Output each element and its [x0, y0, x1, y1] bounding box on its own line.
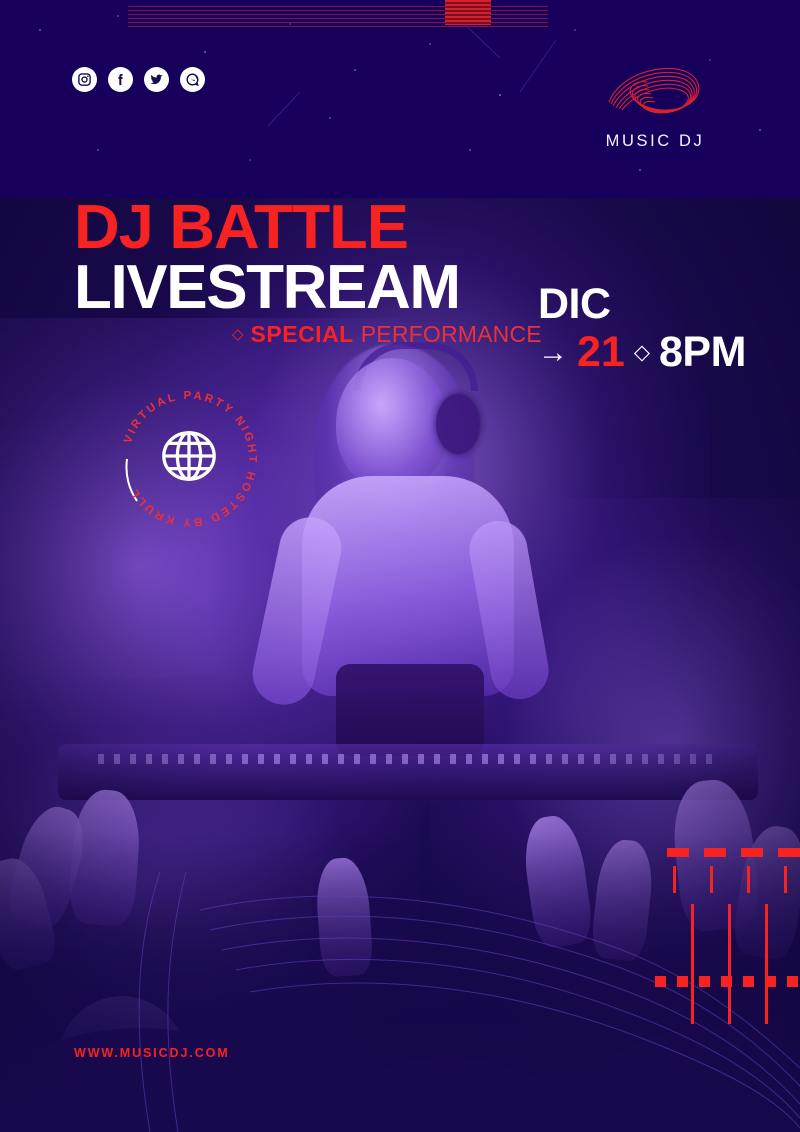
diamond-icon: ◇ [634, 342, 650, 363]
decor-dotted-row [655, 976, 800, 987]
poster-canvas: MUSIC DJ DJ BATTLE LIVESTREAM ◇ SPECIAL … [0, 0, 800, 1132]
top-band: MUSIC DJ [0, 0, 800, 198]
footer-website-url[interactable]: WWW.MUSICDJ.COM [74, 1046, 230, 1060]
decor-bar [728, 904, 731, 1024]
decor-dash [741, 848, 763, 857]
virtual-party-badge: VIRTUAL PARTY NIGHT HOSTED BY KRULL [113, 383, 265, 535]
decor-tick [784, 866, 787, 893]
decor-tick [710, 866, 713, 893]
twitter-icon[interactable] [144, 67, 169, 92]
date-month: DIC [538, 283, 746, 326]
instagram-icon[interactable] [72, 67, 97, 92]
subtitle-light: PERFORMANCE [361, 321, 542, 348]
headline-line-1: DJ BATTLE [74, 199, 747, 256]
red-decoration-group [655, 838, 800, 988]
arrow-right-icon: → [538, 338, 568, 368]
decor-tick [747, 866, 750, 893]
whatsapp-icon[interactable] [180, 67, 205, 92]
decor-bar [765, 904, 768, 1024]
decor-dash [667, 848, 689, 857]
date-day: 21 [577, 331, 625, 374]
brand-logo: MUSIC DJ [560, 58, 750, 151]
subtitle-bold: SPECIAL [251, 321, 354, 348]
decor-dash [778, 848, 800, 857]
decor-tick [673, 866, 676, 893]
decor-bar [691, 904, 694, 1024]
infinity-swirl-logo [560, 58, 750, 130]
decor-dash [704, 848, 726, 857]
globe-icon [158, 425, 220, 487]
event-date-block: DIC → 21 ◇ 8PM [538, 283, 746, 374]
date-row: → 21 ◇ 8PM [538, 331, 746, 374]
logo-text: MUSIC DJ [560, 132, 750, 151]
diamond-icon: ◇ [232, 327, 244, 342]
social-links[interactable] [72, 67, 205, 92]
date-time: 8PM [659, 331, 746, 374]
top-red-block [445, 0, 491, 25]
facebook-icon[interactable] [108, 67, 133, 92]
